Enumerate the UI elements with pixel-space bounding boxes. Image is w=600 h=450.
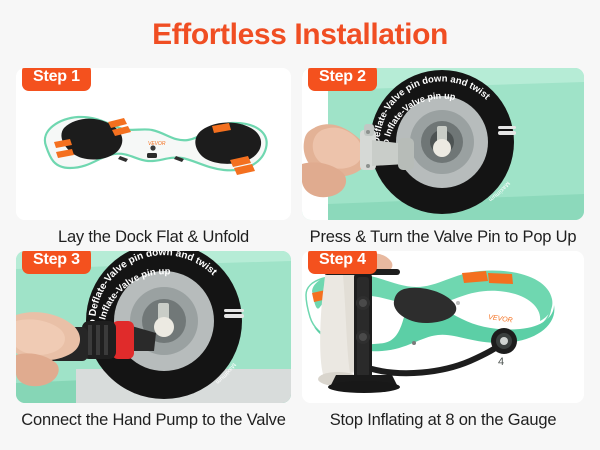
step-image-3: To Deflate-Valve pin down and twist To I… — [16, 251, 291, 403]
step-badge-4: Step 4 — [308, 251, 377, 274]
step-caption-2: Press & Turn the Valve Pin to Pop Up — [302, 227, 584, 247]
svg-text:VEVOR: VEVOR — [148, 141, 166, 147]
installation-poster: Effortless Installation — [0, 0, 600, 450]
page-title: Effortless Installation — [0, 18, 600, 52]
step-card-1: VEVOR Step 1 Lay the Dock Flat & Unfold — [16, 68, 291, 247]
step-badge-2: Step 2 — [308, 68, 377, 91]
step-card-2: Deflate-Valve pin down and twist To Infl… — [302, 68, 584, 247]
step-badge-3: Step 3 — [22, 251, 91, 274]
step-caption-3: Connect the Hand Pump to the Valve — [16, 410, 291, 430]
step-image-1: VEVOR Step 1 — [16, 68, 291, 220]
step-badge-1: Step 1 — [22, 68, 91, 91]
steps-grid: VEVOR Step 1 Lay the Dock Flat & Unfold — [16, 68, 584, 430]
step-image-4: VEVOR — [302, 251, 584, 403]
step-card-3: To Deflate-Valve pin down and twist To I… — [16, 251, 291, 430]
step-caption-4: Stop Inflating at 8 on the Gauge — [302, 410, 584, 430]
step-caption-1: Lay the Dock Flat & Unfold — [16, 227, 291, 247]
gauge-number: 4 — [498, 356, 504, 368]
step-image-2: Deflate-Valve pin down and twist To Infl… — [302, 68, 584, 220]
step-card-4: VEVOR — [302, 251, 584, 430]
